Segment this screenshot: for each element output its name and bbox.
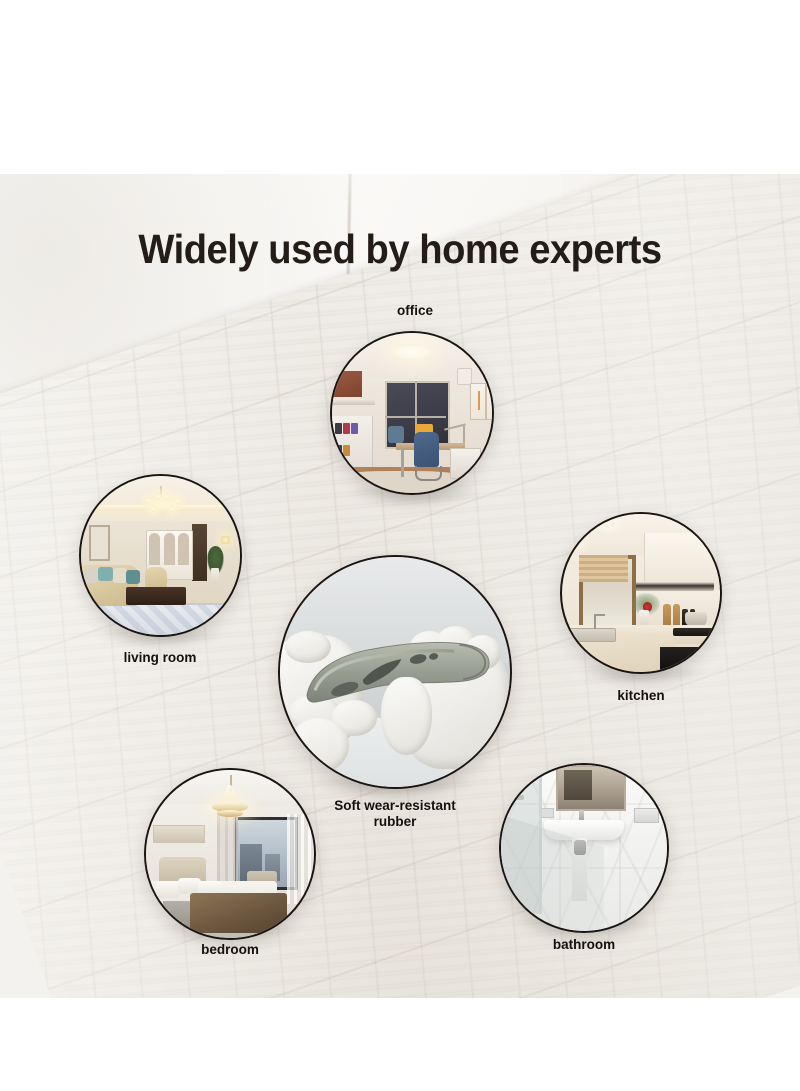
living-room-framed-art <box>89 525 110 561</box>
caption-office: office <box>325 303 505 319</box>
kitchen-range-hood <box>632 582 714 591</box>
living-room-vase <box>211 568 219 584</box>
glove-grip-finger <box>289 718 349 773</box>
kitchen-oven <box>660 647 714 672</box>
living-room-niche <box>149 533 160 565</box>
office-cushion-blue <box>388 426 404 444</box>
bedroom-wall-panel <box>153 825 205 842</box>
kitchen-sink <box>570 628 616 643</box>
living-room-door <box>192 524 206 581</box>
living-room-wall-sconce-icon <box>221 536 231 544</box>
bubble-office[interactable] <box>330 331 494 495</box>
living-room-photo <box>81 476 240 635</box>
bathroom-wall-outlet <box>541 808 555 818</box>
office-chair-base <box>415 466 441 481</box>
caption-living-room: living room <box>70 650 250 666</box>
kitchen-window-blind <box>579 555 628 582</box>
office-cabinet <box>450 448 481 479</box>
kitchen-faucet <box>594 614 596 630</box>
bathroom-photo <box>501 765 667 931</box>
bubble-kitchen[interactable] <box>560 512 722 674</box>
living-room-cushion <box>84 568 98 582</box>
bubble-bathroom[interactable] <box>499 763 669 933</box>
office-book <box>343 423 349 434</box>
office-brick-accent <box>332 371 362 397</box>
bedroom-pillow <box>156 881 180 898</box>
bedroom-throw-blanket <box>190 893 287 933</box>
bathroom-cabinet-opening <box>564 770 592 800</box>
living-room-cushion <box>126 570 140 584</box>
living-room-cushion <box>113 568 127 582</box>
bubble-living-room[interactable] <box>79 474 242 637</box>
kitchen-stove <box>673 628 717 636</box>
office-wall-art <box>470 383 486 420</box>
office-desk-leg <box>401 448 404 477</box>
caption-kitchen: kitchen <box>560 688 722 704</box>
kitchen-faucet-spout <box>594 614 605 616</box>
office-book <box>351 423 357 434</box>
bubble-bedroom[interactable] <box>144 768 316 940</box>
bubble-product[interactable] <box>278 555 512 789</box>
product-photo <box>280 557 510 787</box>
office-book <box>343 445 349 456</box>
bedroom-photo <box>146 770 314 938</box>
kitchen-downlight-icon <box>603 520 614 526</box>
living-room-niche <box>178 533 189 565</box>
office-book <box>335 445 341 456</box>
office-book <box>335 423 341 434</box>
living-room-rug <box>94 603 242 637</box>
kitchen-upper-cabinets <box>644 533 722 587</box>
office-chair <box>414 432 440 467</box>
caption-bedroom: bedroom <box>144 942 316 958</box>
glove-grip-finger <box>381 677 432 755</box>
living-room-coffee-table <box>126 587 186 604</box>
office-shelf-board <box>332 399 375 405</box>
living-room-cushion <box>98 567 112 581</box>
living-room-niche <box>164 533 175 565</box>
bedroom-sheer-curtain <box>287 814 314 905</box>
kitchen-photo <box>562 514 720 672</box>
bathroom-vent <box>634 808 659 823</box>
caption-bathroom: bathroom <box>499 937 669 953</box>
kitchen-downlight-icon <box>570 539 581 545</box>
page-title: Widely used by home experts <box>28 226 772 273</box>
caption-product: Soft wear-resistant rubber <box>305 798 485 830</box>
office-photo <box>332 333 492 493</box>
